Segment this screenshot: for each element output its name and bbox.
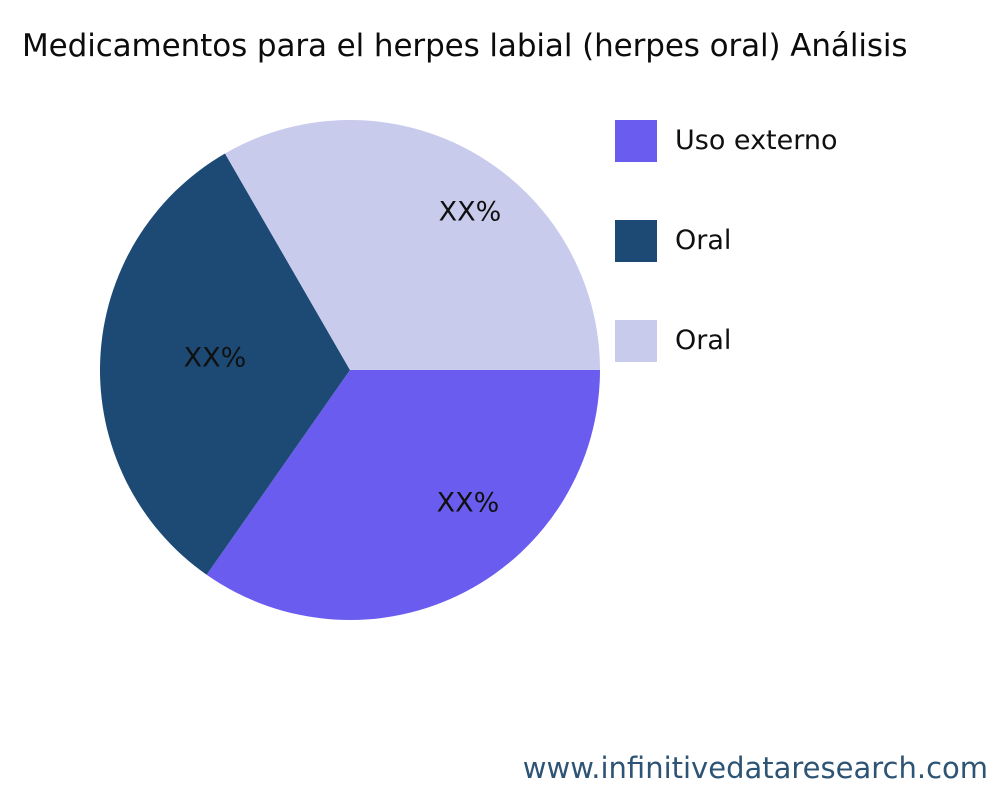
legend-item-label: Oral: [675, 323, 731, 359]
pie-slice-label: XX%: [439, 197, 502, 228]
legend-item-label: Oral: [675, 223, 731, 259]
chart-canvas: Medicamentos para el herpes labial (herp…: [0, 0, 1000, 800]
legend-color-swatch: [615, 120, 657, 162]
pie-slice-label: XX%: [437, 488, 500, 519]
page-title: Medicamentos para el herpes labial (herp…: [22, 27, 1000, 65]
legend-item[interactable]: Uso externo: [615, 120, 985, 220]
pie-slice-label: XX%: [184, 343, 247, 374]
legend-item[interactable]: Oral: [615, 320, 985, 420]
pie-svg: [100, 120, 600, 620]
pie-chart: XX%XX%XX%: [100, 120, 600, 620]
legend-item[interactable]: Oral: [615, 220, 985, 320]
legend-color-swatch: [615, 220, 657, 262]
chart-legend: Uso externoOralOral: [615, 120, 985, 420]
footer-url[interactable]: www.infinitivedataresearch.com: [523, 750, 988, 786]
legend-item-label: Uso externo: [675, 123, 838, 159]
legend-color-swatch: [615, 320, 657, 362]
